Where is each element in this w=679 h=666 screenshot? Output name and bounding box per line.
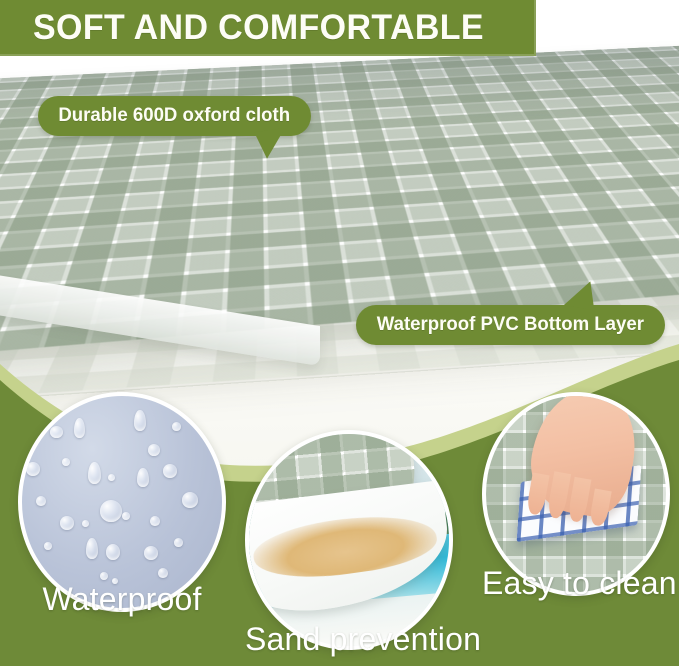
water-droplet-icon (137, 468, 149, 487)
water-droplet-icon (182, 492, 198, 508)
water-droplet-icon (158, 568, 168, 578)
water-droplet-icon (100, 500, 122, 522)
water-droplet-icon (62, 458, 70, 466)
water-droplet-icon (26, 462, 40, 476)
water-droplet-icon (82, 520, 89, 527)
water-droplet-icon (86, 538, 98, 559)
callout-oxford-cloth: Durable 600D oxford cloth (38, 96, 311, 136)
water-droplet-icon (134, 410, 146, 431)
water-droplet-icon (60, 516, 74, 530)
water-droplet-icon (144, 546, 158, 560)
water-droplet-icon (122, 512, 130, 520)
callout-pointer-icon (254, 128, 289, 160)
callout-pvc-bottom-layer-label: Waterproof PVC Bottom Layer (359, 305, 662, 345)
header-banner: SOFT AND COMFORTABLE (0, 0, 536, 56)
feature-waterproof: Waterproof (18, 392, 226, 612)
water-droplet-icon (44, 542, 52, 550)
callout-pvc-bottom-layer: Waterproof PVC Bottom Layer (356, 305, 665, 345)
water-droplet-icon (163, 464, 177, 478)
water-droplet-icon (74, 418, 85, 438)
water-droplet-icon (100, 572, 108, 580)
feature-sand-prevention-image (245, 430, 453, 650)
feature-sand-prevention-label: Sand prevention (245, 620, 453, 658)
water-droplet-icon (150, 516, 160, 526)
water-droplet-icon (172, 422, 181, 431)
water-droplet-icon (108, 474, 115, 481)
callout-pointer-icon (564, 278, 599, 311)
water-droplet-icon (50, 426, 63, 438)
feature-easy-to-clean-label: Easy to clean (482, 564, 670, 602)
product-infographic: SOFT AND COMFORTABLE Durable 600D oxford… (0, 0, 679, 666)
water-droplet-icon (174, 538, 183, 547)
feature-waterproof-image (18, 392, 226, 612)
water-droplet-icon (36, 496, 46, 506)
feature-sand-prevention: Sand prevention (245, 430, 453, 650)
feature-waterproof-label: Waterproof (18, 580, 226, 618)
water-droplet-icon (88, 462, 101, 484)
page-title: SOFT AND COMFORTABLE (33, 7, 484, 49)
water-droplet-icon (106, 544, 120, 560)
feature-easy-to-clean: Easy to clean (482, 392, 670, 596)
water-droplet-icon (148, 444, 160, 456)
